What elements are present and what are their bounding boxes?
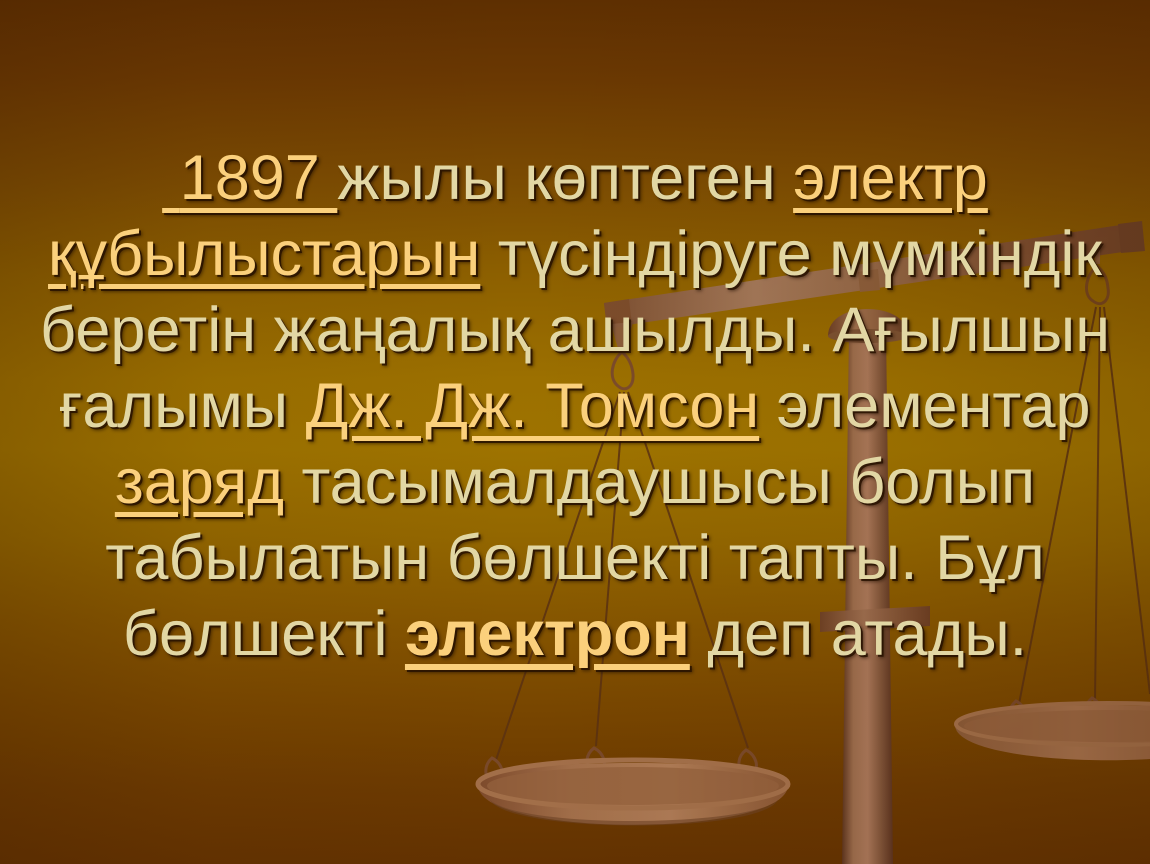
line7-electron-highlight: электрон bbox=[405, 599, 690, 669]
text-line-7: бөлшекті электрон деп атады. bbox=[0, 596, 1150, 672]
text-line-1: 1897 жылы көптеген электр bbox=[0, 140, 1150, 216]
line5-zaryad-highlight: заряд bbox=[115, 447, 284, 517]
line3-text: беретін жаңалық ашылды. Ағылшын bbox=[40, 295, 1110, 365]
text-line-3: беретін жаңалық ашылды. Ағылшын bbox=[0, 292, 1150, 368]
scale-left-pan bbox=[478, 748, 788, 826]
line2-qubylystaryn-highlight: құбылыстарын bbox=[48, 219, 480, 289]
line1-lead-space bbox=[162, 143, 180, 213]
line4-thomson-highlight: Дж. Дж. Томсон bbox=[306, 371, 760, 441]
line2-text: түсіндіруге мүмкіндік bbox=[480, 219, 1102, 289]
slide-text-block: 1897 жылы көптеген электр құбылыстарын т… bbox=[0, 140, 1150, 672]
line7-text-after: деп атады. bbox=[690, 599, 1027, 669]
text-line-5: заряд тасымалдаушысы болып bbox=[0, 444, 1150, 520]
text-line-4: ғалымы Дж. Дж. Томсон элементар bbox=[0, 368, 1150, 444]
line7-text-before: бөлшекті bbox=[123, 599, 405, 669]
line5-text: тасымалдаушысы болып bbox=[284, 447, 1035, 517]
scale-right-pan bbox=[955, 698, 1150, 760]
slide-canvas: 1897 жылы көптеген электр құбылыстарын т… bbox=[0, 0, 1150, 864]
line1-year-highlight: 1897 bbox=[180, 143, 338, 213]
line4-text-before: ғалымы bbox=[59, 371, 305, 441]
line4-text-after: элементар bbox=[759, 371, 1090, 441]
text-line-6: табылатын бөлшекті тапты. Бұл bbox=[0, 520, 1150, 596]
line1-text: жылы көптеген bbox=[337, 143, 793, 213]
line6-text: табылатын бөлшекті тапты. Бұл bbox=[105, 523, 1045, 593]
line1-elektr-highlight: электр bbox=[793, 143, 988, 213]
text-line-2: құбылыстарын түсіндіруге мүмкіндік bbox=[0, 216, 1150, 292]
